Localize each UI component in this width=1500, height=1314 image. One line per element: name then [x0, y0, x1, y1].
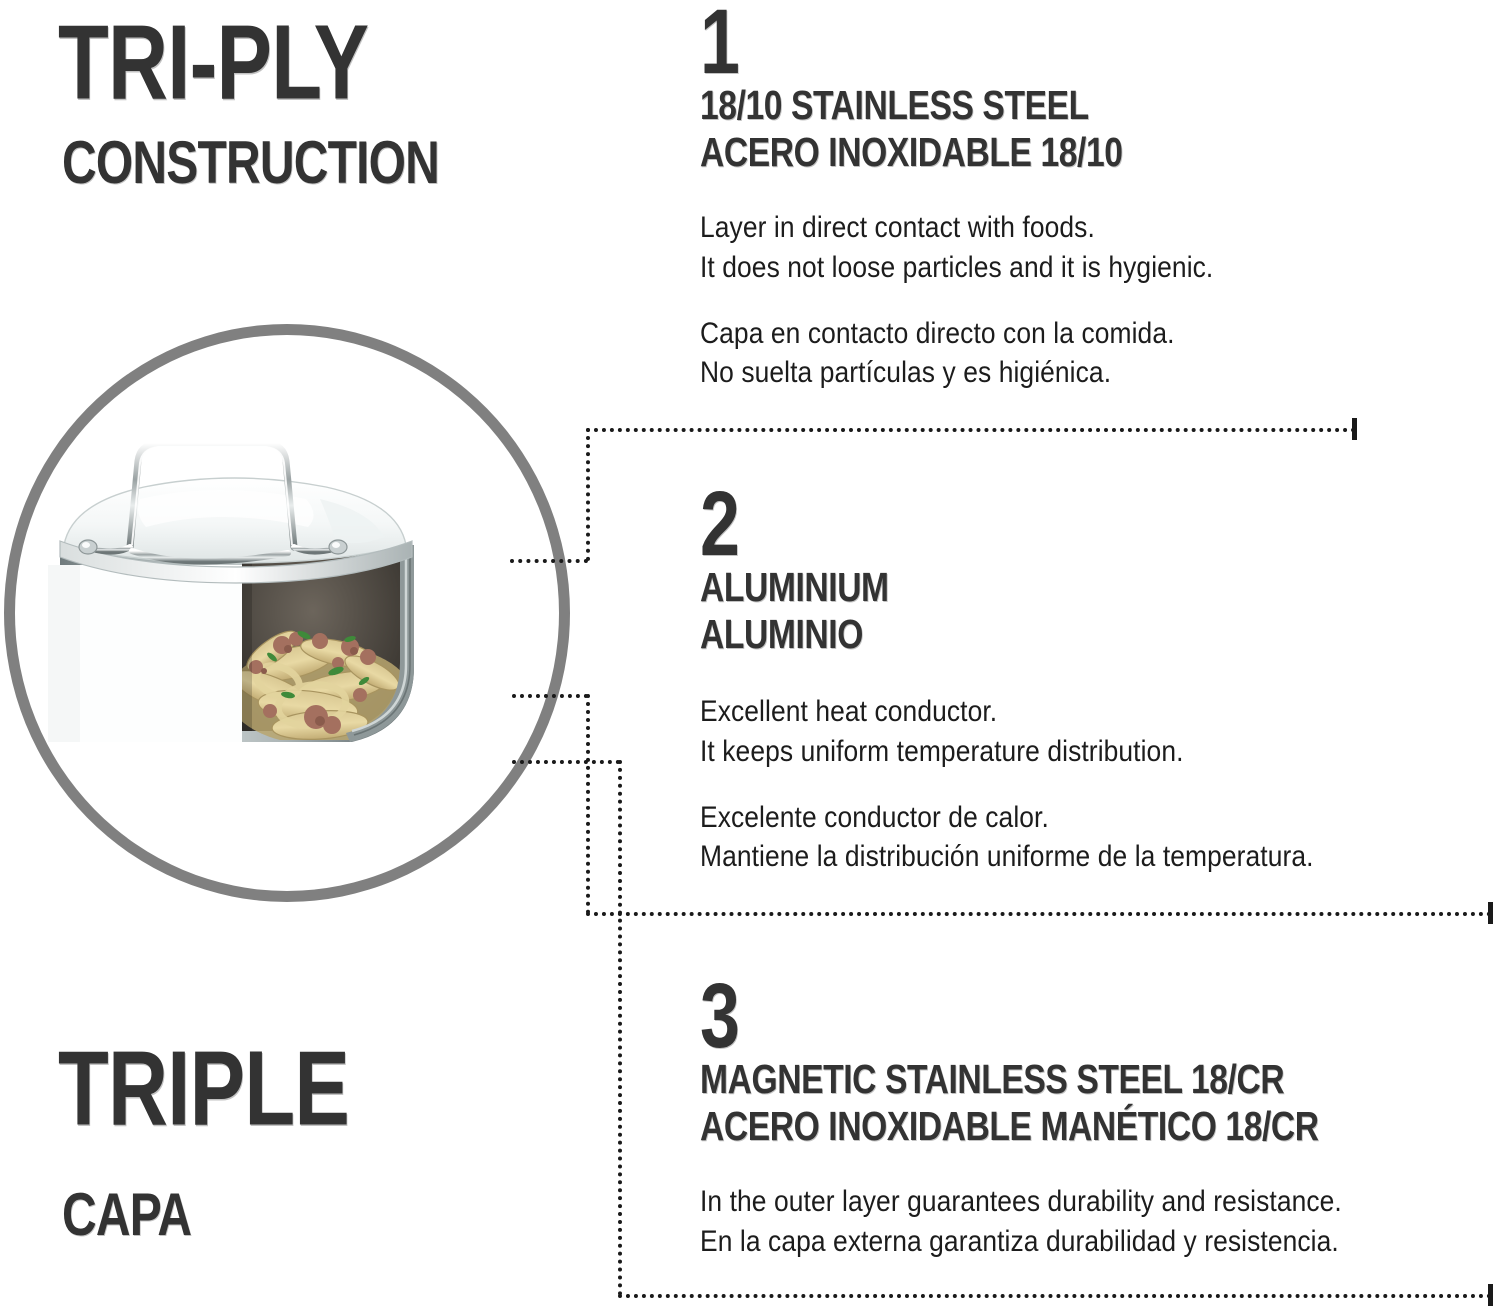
- pot-illustration: [20, 395, 560, 825]
- section-2-number: 2: [700, 486, 1324, 563]
- section-2-body-en-line-2: It keeps uniform temperature distributio…: [700, 732, 1404, 772]
- section-3-heading-es: ACERO INOXIDABLE MANÉTICO 18/CR: [700, 1104, 1356, 1148]
- section-3-heading-en: MAGNETIC STAINLESS STEEL 18/CR: [700, 1057, 1356, 1101]
- leader-line-2-end-tick: [1488, 902, 1493, 924]
- headline-capa: CAPA: [62, 1185, 191, 1245]
- section-2-body-gap: [700, 772, 1500, 798]
- section-1-body-en-line-2: It does not loose particles and it is hy…: [700, 248, 1404, 288]
- section-1-heading-es: ACERO INOXIDABLE 18/10: [700, 130, 1356, 174]
- section-1-body-en-line-1: Layer in direct contact with foods.: [700, 208, 1404, 248]
- section-3: 3 MAGNETIC STAINLESS STEEL 18/CR ACERO I…: [700, 978, 1500, 1262]
- section-2-body-en-line-1: Excellent heat conductor.: [700, 692, 1404, 732]
- leader-line-1-end-tick: [1352, 418, 1357, 440]
- leader-line-1-vertical: [586, 428, 590, 561]
- section-3-body-es-line-1: En la capa externa garantiza durabilidad…: [700, 1222, 1404, 1262]
- leader-line-3-end-tick: [1488, 1284, 1493, 1306]
- section-2-body-es-line-2: Mantiene la distribución uniforme de la …: [700, 837, 1404, 877]
- leader-line-1-horizontal-short: [510, 559, 588, 563]
- leader-line-3-vertical: [618, 760, 622, 1296]
- section-1-body-es-line-2: No suelta partículas y es higiénica.: [700, 353, 1404, 393]
- section-2-heading-es: ALUMINIO: [700, 612, 1356, 656]
- section-2: 2 ALUMINIUM ALUMINIO Excellent heat cond…: [700, 486, 1500, 877]
- headline-triple: TRIPLE: [58, 1036, 349, 1142]
- section-3-number: 3: [700, 978, 1324, 1055]
- section-2-heading-en: ALUMINIUM: [700, 565, 1356, 609]
- section-1: 1 18/10 STAINLESS STEEL ACERO INOXIDABLE…: [700, 4, 1500, 393]
- headline-tri-ply: TRI-PLY: [58, 10, 368, 116]
- section-3-body-en-line-1: In the outer layer guarantees durability…: [700, 1182, 1404, 1222]
- headline-construction: CONSTRUCTION: [62, 133, 439, 193]
- leader-line-3-horizontal-short: [512, 760, 620, 764]
- infographic-page: TRI-PLY CONSTRUCTION TRIPLE CAPA: [0, 0, 1500, 1314]
- leader-line-1-horizontal-long: [586, 428, 1356, 432]
- leader-line-2-vertical: [586, 694, 590, 914]
- section-1-heading-en: 18/10 STAINLESS STEEL: [700, 83, 1356, 127]
- leader-line-2-horizontal-long: [586, 912, 1492, 916]
- section-1-number: 1: [700, 4, 1324, 81]
- leader-line-2-horizontal-short: [512, 694, 588, 698]
- section-1-body-es-line-1: Capa en contacto directo con la comida.: [700, 314, 1404, 354]
- leader-line-3-horizontal-long: [618, 1294, 1492, 1298]
- section-2-body-es-line-1: Excelente conductor de calor.: [700, 798, 1404, 838]
- section-1-body-gap: [700, 288, 1500, 314]
